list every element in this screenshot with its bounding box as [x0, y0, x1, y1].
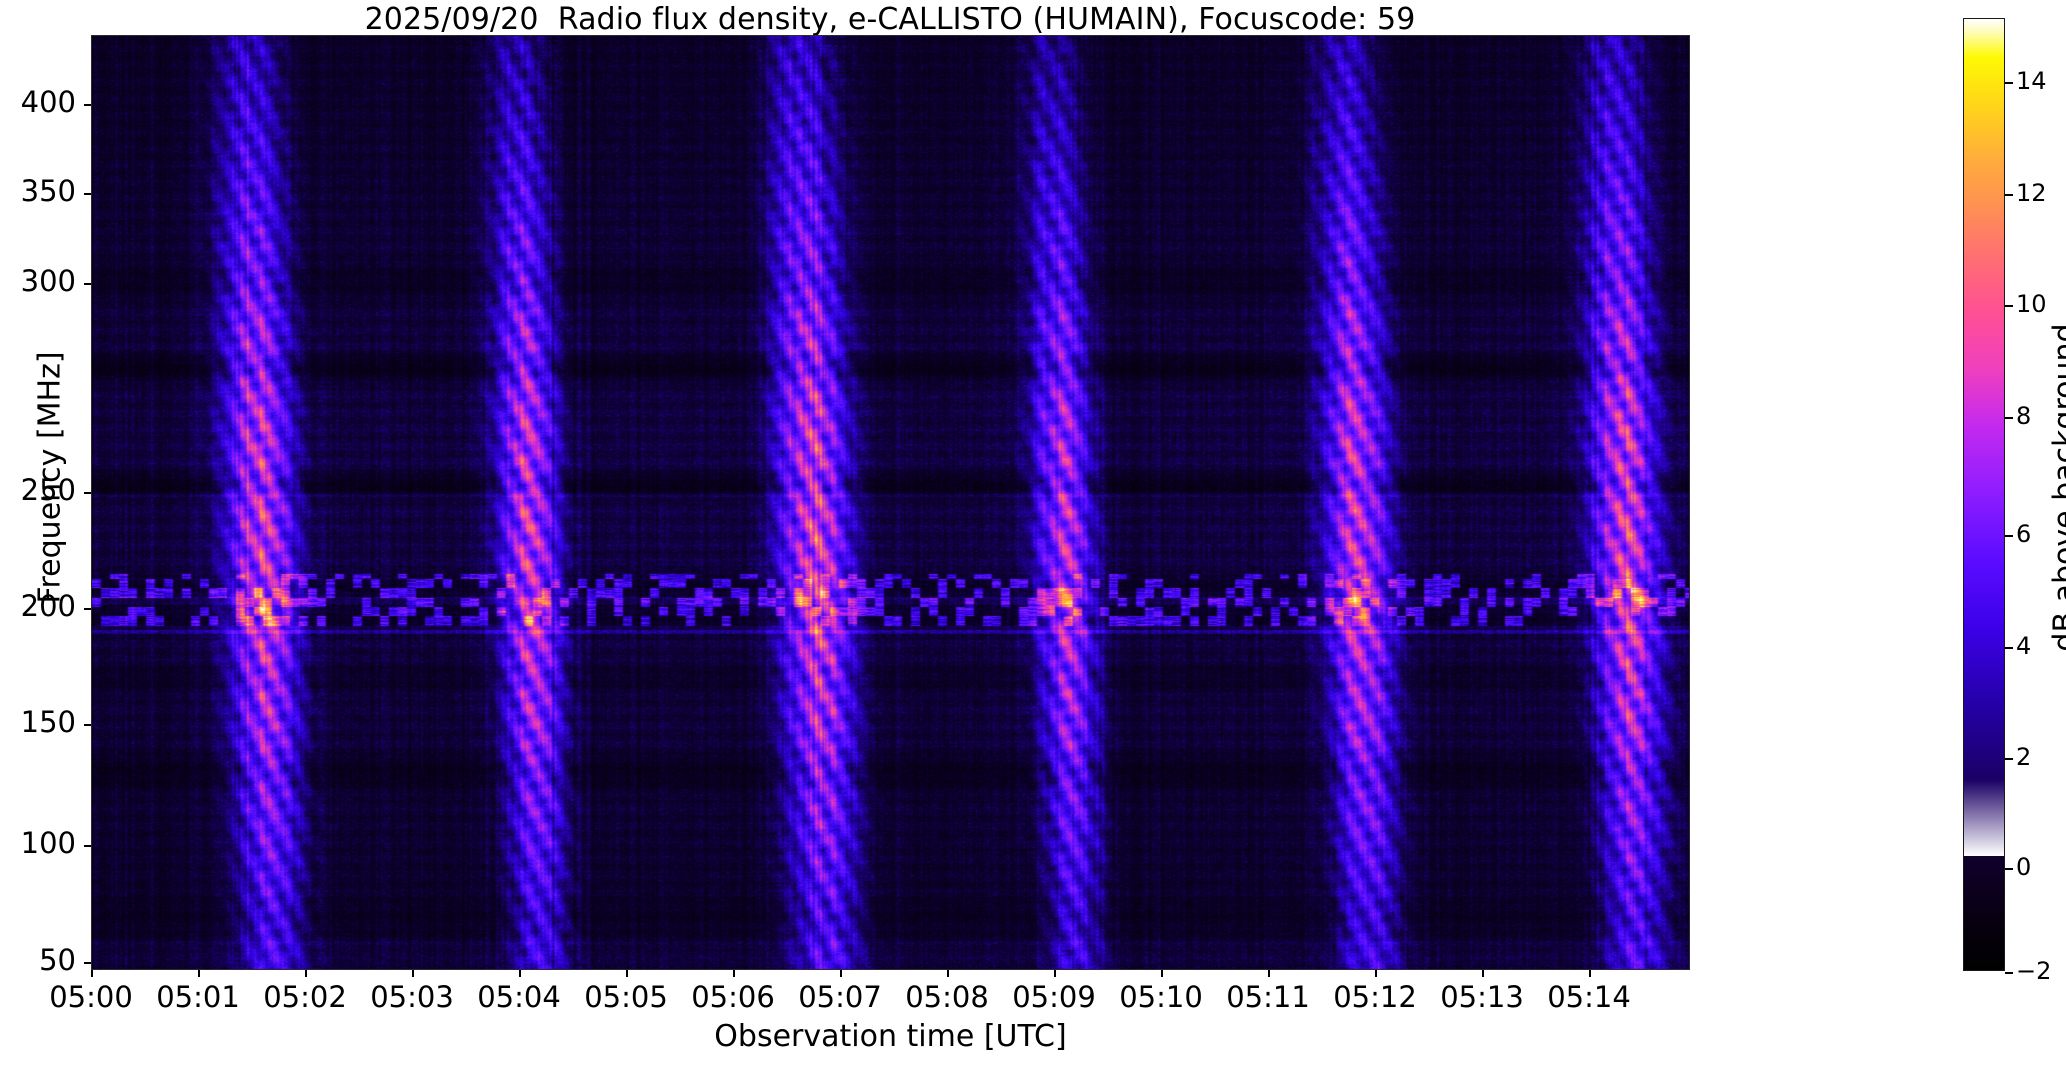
- x-tick-mark: [412, 970, 414, 977]
- spectrogram-plot: [91, 35, 1690, 970]
- y-tick-mark: [84, 724, 91, 726]
- x-tick-mark: [198, 970, 200, 977]
- colorbar-tick-label: 2: [2016, 743, 2031, 771]
- x-tick-mark: [626, 970, 628, 977]
- x-tick-mark: [1589, 970, 1591, 977]
- colorbar-tick-mark: [2005, 82, 2013, 84]
- x-tick-mark: [947, 970, 949, 977]
- y-tick-mark: [84, 962, 91, 964]
- x-tick-mark: [305, 970, 307, 977]
- y-tick-label: 350: [0, 174, 76, 208]
- colorbar-tick-mark: [2005, 972, 2013, 974]
- y-tick-label: 150: [0, 705, 76, 739]
- x-tick-mark: [733, 970, 735, 977]
- y-tick-mark: [84, 492, 91, 494]
- x-tick-mark: [519, 970, 521, 977]
- colorbar-tick-label: 6: [2016, 520, 2031, 548]
- x-axis-title: Observation time [UTC]: [91, 1019, 1690, 1054]
- x-tick-label: 05:14: [1504, 980, 1674, 1014]
- colorbar-tick-mark: [2005, 535, 2013, 537]
- x-tick-mark: [840, 970, 842, 977]
- figure-root: 2025/09/20 Radio flux density, e-CALLIST…: [0, 0, 2066, 1067]
- colorbar-title: dB above background: [2048, 278, 2066, 698]
- colorbar-tick-label: 4: [2016, 632, 2031, 660]
- colorbar-tick-mark: [2005, 868, 2013, 870]
- y-tick-label: 100: [0, 826, 76, 860]
- figure-title: 2025/09/20 Radio flux density, e-CALLIST…: [0, 2, 1780, 37]
- y-tick-label: 400: [0, 85, 76, 119]
- y-axis-title: Frequency [MHz]: [33, 248, 68, 708]
- x-tick-mark: [1161, 970, 1163, 977]
- colorbar-tick-mark: [2005, 647, 2013, 649]
- y-tick-label: 50: [0, 943, 76, 977]
- y-tick-mark: [84, 104, 91, 106]
- colorbar-tick-mark: [2005, 305, 2013, 307]
- x-tick-mark: [1268, 970, 1270, 977]
- colorbar-tick-mark: [2005, 758, 2013, 760]
- colorbar: [1963, 18, 2005, 971]
- spectrogram-canvas: [92, 36, 1690, 970]
- colorbar-tick-mark: [2005, 194, 2013, 196]
- x-tick-mark: [1054, 970, 1056, 977]
- colorbar-tick-label: −2: [2016, 957, 2051, 985]
- y-tick-mark: [84, 193, 91, 195]
- x-tick-mark: [1482, 970, 1484, 977]
- colorbar-tick-label: 0: [2016, 853, 2031, 881]
- y-tick-mark: [84, 283, 91, 285]
- y-tick-mark: [84, 845, 91, 847]
- colorbar-tick-label: 10: [2016, 290, 2047, 318]
- colorbar-tick-mark: [2005, 417, 2013, 419]
- colorbar-tick-label: 12: [2016, 179, 2047, 207]
- colorbar-tick-label: 8: [2016, 402, 2031, 430]
- y-tick-mark: [84, 608, 91, 610]
- x-tick-mark: [91, 970, 93, 977]
- colorbar-tick-label: 14: [2016, 67, 2047, 95]
- x-tick-mark: [1375, 970, 1377, 977]
